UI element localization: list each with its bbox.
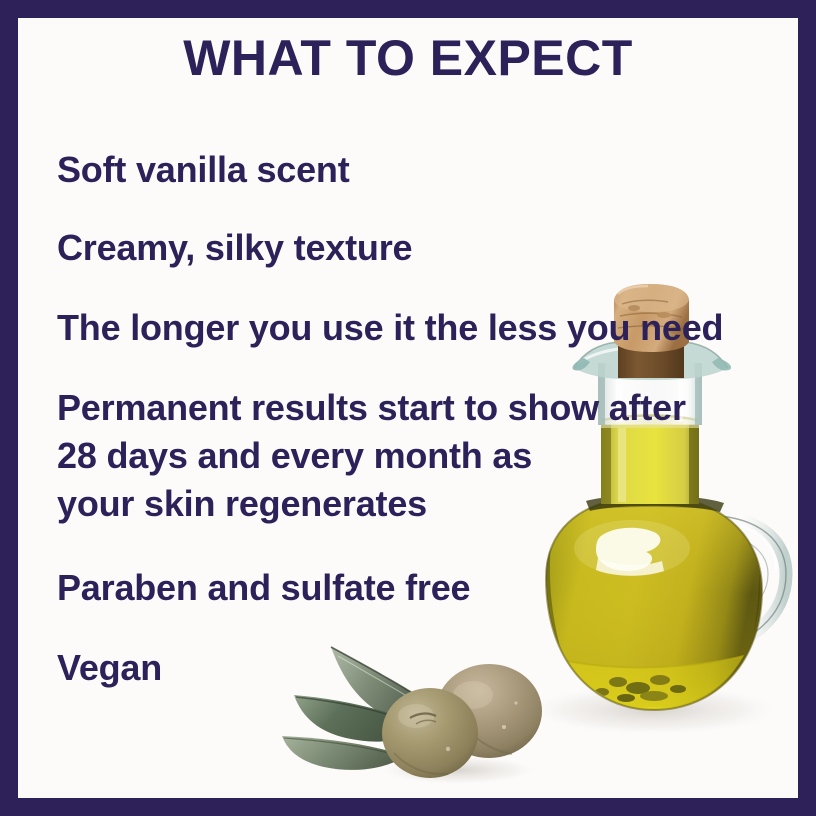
bullet-results: Permanent results start to show after 28…	[57, 384, 686, 528]
glass-handle	[678, 516, 786, 652]
oil-sediment	[595, 675, 686, 702]
bullet-scent: Soft vanilla scent	[57, 146, 350, 194]
card-inner-panel: WHAT TO EXPECT Soft vanilla scent Creamy…	[18, 18, 798, 798]
bullet-vegan: Vegan	[57, 644, 162, 692]
olive-leaf-upper	[331, 647, 442, 721]
bullet-texture: Creamy, silky texture	[57, 224, 412, 272]
page-title: WHAT TO EXPECT	[18, 32, 798, 85]
olive-fruit-front	[382, 688, 478, 778]
olives-shadow	[376, 755, 540, 785]
olive-leaf-middle	[294, 695, 426, 742]
olive-leaf-lower	[282, 736, 406, 770]
bullet-free-from: Paraben and sulfate free	[57, 564, 470, 612]
bullet-longevity: The longer you use it the less you need	[57, 304, 723, 352]
bottle-shadow	[524, 684, 784, 736]
olive-fruit-back	[436, 664, 542, 758]
what-to-expect-card: WHAT TO EXPECT Soft vanilla scent Creamy…	[0, 0, 816, 816]
